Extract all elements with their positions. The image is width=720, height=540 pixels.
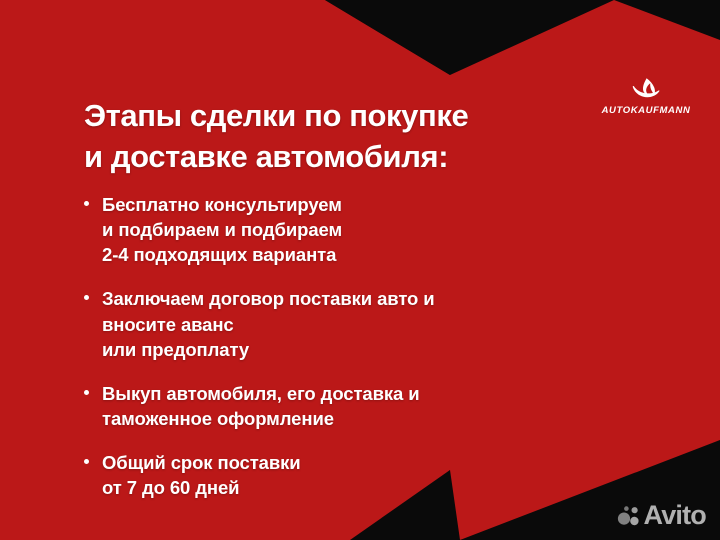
bullet-dot-icon	[84, 201, 89, 206]
bullet-dot-icon	[84, 295, 89, 300]
list-item: Выкуп автомобиля, его доставка и таможен…	[84, 381, 644, 431]
list-item: Заключаем договор поставки авто и вносит…	[84, 286, 644, 361]
avito-watermark: Avito	[617, 502, 707, 529]
list-item: Бесплатно консультируем и подбираем и по…	[84, 192, 644, 267]
list-item: Общий срок поставки от 7 до 60 дней	[84, 450, 644, 500]
deal-steps-list: Бесплатно консультируем и подбираем и по…	[84, 192, 644, 501]
bullet-dot-icon	[84, 459, 89, 464]
avito-wordmark: Avito	[644, 502, 707, 529]
list-item-label: Бесплатно консультируем и подбираем и по…	[102, 192, 342, 267]
list-item-label: Заключаем договор поставки авто и вносит…	[102, 286, 435, 361]
promo-poster: Этапы сделки по покупке и доставке автом…	[0, 0, 720, 540]
brand-wordmark: AUTOKAUFMANN	[602, 105, 691, 116]
page-title: Этапы сделки по покупке и доставке автом…	[84, 95, 604, 177]
avito-dots-icon	[617, 504, 641, 528]
list-item-label: Выкуп автомобиля, его доставка и таможен…	[102, 381, 420, 431]
brand-logo: AUTOKAUFMANN	[594, 76, 698, 116]
list-item-label: Общий срок поставки от 7 до 60 дней	[102, 450, 301, 500]
bullet-dot-icon	[84, 390, 89, 395]
autokaufmann-flame-icon	[631, 76, 661, 104]
